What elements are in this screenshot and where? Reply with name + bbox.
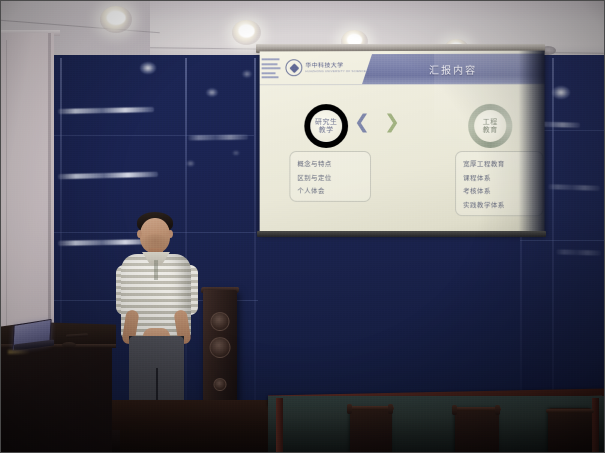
wall-highlight (242, 70, 252, 78)
lectern-item (62, 342, 76, 348)
loudspeaker-tower (203, 290, 237, 410)
chair-post (347, 404, 352, 414)
projection-screen: 华中科技大学 HUAZHONG UNIVERSITY OF SCIENCE AN… (260, 51, 545, 235)
chevron-left-icon: ❮ (354, 113, 370, 132)
bullet-box-left: 概念与特点 区别与定位 个人体会 (289, 151, 371, 202)
ceiling-light-1 (100, 6, 132, 33)
wall-reflection (188, 135, 248, 141)
table-leg (276, 398, 283, 453)
chevron-right-icon: ❯ (384, 113, 400, 132)
screen-shadow (518, 51, 544, 235)
speaker-driver-icon (214, 378, 227, 391)
ceiling-light-2 (232, 20, 261, 45)
lectern-reflection (8, 350, 30, 354)
wall-highlight (140, 62, 156, 74)
wall-column-edge (48, 33, 51, 368)
chair-backrest (546, 409, 594, 413)
chair (350, 408, 392, 453)
table-leg (592, 398, 599, 453)
presenter-placket (154, 260, 158, 280)
conference-room-photo: 华中科技大学 HUAZHONG UNIVERSITY OF SCIENCE AN… (0, 0, 605, 453)
speaker-driver-icon (210, 337, 231, 358)
slide-title: 汇报内容 (429, 61, 477, 76)
bullet-item: 个人体会 (297, 185, 363, 195)
node-right-line2: 教育 (483, 126, 498, 134)
wall-panel-seam (520, 240, 605, 241)
bullet-item: 区别与定位 (297, 171, 363, 181)
chair-backrest (453, 407, 501, 411)
node-right-line1: 工程 (483, 118, 498, 126)
wall-highlight (232, 150, 240, 156)
wall-column (0, 33, 54, 368)
chair (548, 408, 592, 453)
presenter-ear (168, 230, 173, 238)
wall-panel-seam (552, 58, 554, 414)
bullet-item: 概念与特点 (297, 158, 363, 168)
chair-post (452, 405, 457, 415)
chair-post (495, 405, 500, 415)
presentation-slide: 华中科技大学 HUAZHONG UNIVERSITY OF SCIENCE AN… (260, 51, 545, 235)
floor (95, 400, 275, 453)
presenter-ear (137, 230, 142, 238)
wall-column-seam (6, 40, 7, 360)
slide-title-band: 汇报内容 (362, 54, 545, 84)
chair (455, 408, 499, 453)
stripe-decoration-icon (262, 58, 282, 78)
header-divider (260, 84, 545, 85)
projector-screen-bottom-bar (257, 231, 546, 237)
wall-highlight (206, 88, 218, 97)
chair-post (388, 404, 393, 414)
node-left-line1: 研究生 (315, 118, 337, 126)
wall-panel-seam (254, 58, 256, 408)
node-circle-left: 研究生 教学 (304, 104, 348, 148)
wall-highlight (186, 160, 195, 167)
wall-highlight (552, 86, 570, 99)
node-left-line2: 教学 (319, 126, 334, 134)
university-emblem-icon (285, 59, 302, 76)
speaker-driver-icon (211, 312, 230, 331)
slide-header: 华中科技大学 HUAZHONG UNIVERSITY OF SCIENCE AN… (260, 54, 545, 85)
node-circle-right: 工程 教育 (468, 104, 512, 148)
